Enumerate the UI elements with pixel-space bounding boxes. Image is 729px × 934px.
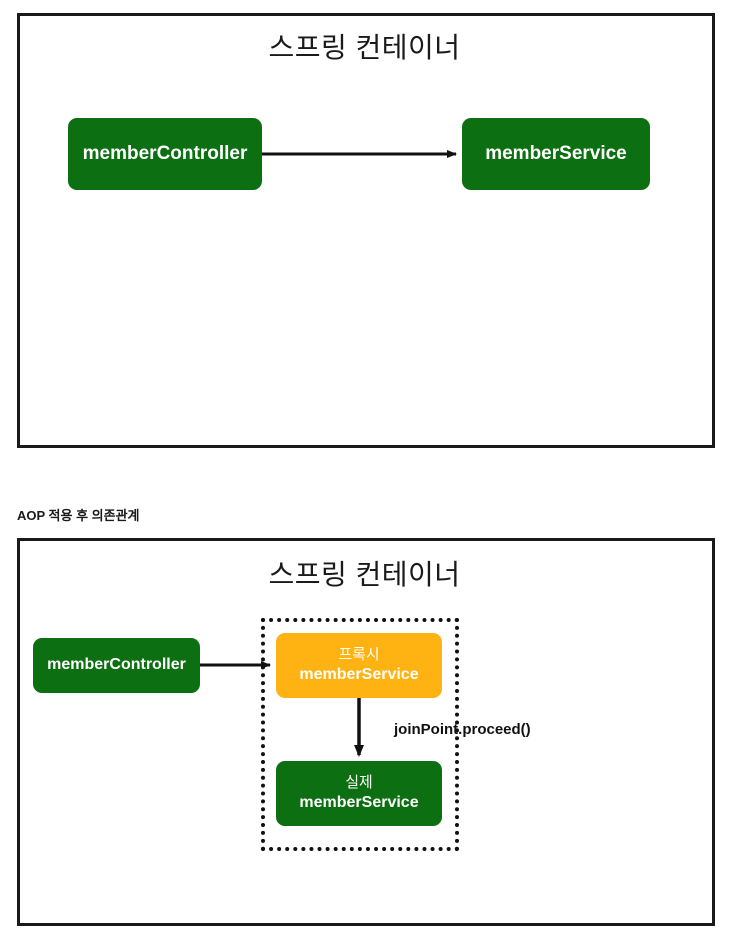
container-title-before-aop: 스프링 컨테이너 <box>0 26 729 66</box>
node-label: memberController <box>47 655 186 675</box>
node-real-member-service[interactable]: 실제 memberService <box>276 761 442 826</box>
node-member-controller-before-aop[interactable]: memberController <box>68 118 262 190</box>
caption-after-aop: AOP 적용 후 의존관계 <box>17 505 140 524</box>
node-label-line2: memberService <box>299 793 418 813</box>
node-label-line2: memberService <box>299 665 418 685</box>
node-member-controller-after-aop[interactable]: memberController <box>33 638 200 693</box>
spring-container-frame-before-aop <box>17 13 715 448</box>
container-title-after-aop: 스프링 컨테이너 <box>0 553 729 593</box>
node-label-line1: 실제 <box>345 774 372 793</box>
node-label: memberController <box>83 142 248 166</box>
node-label: memberService <box>485 142 627 166</box>
node-proxy-member-service[interactable]: 프록시 memberService <box>276 633 442 698</box>
edge-label-joinpoint-proceed: joinPoint.proceed() <box>394 721 531 738</box>
node-label-line1: 프록시 <box>338 646 379 665</box>
node-member-service-before-aop[interactable]: memberService <box>462 118 650 190</box>
